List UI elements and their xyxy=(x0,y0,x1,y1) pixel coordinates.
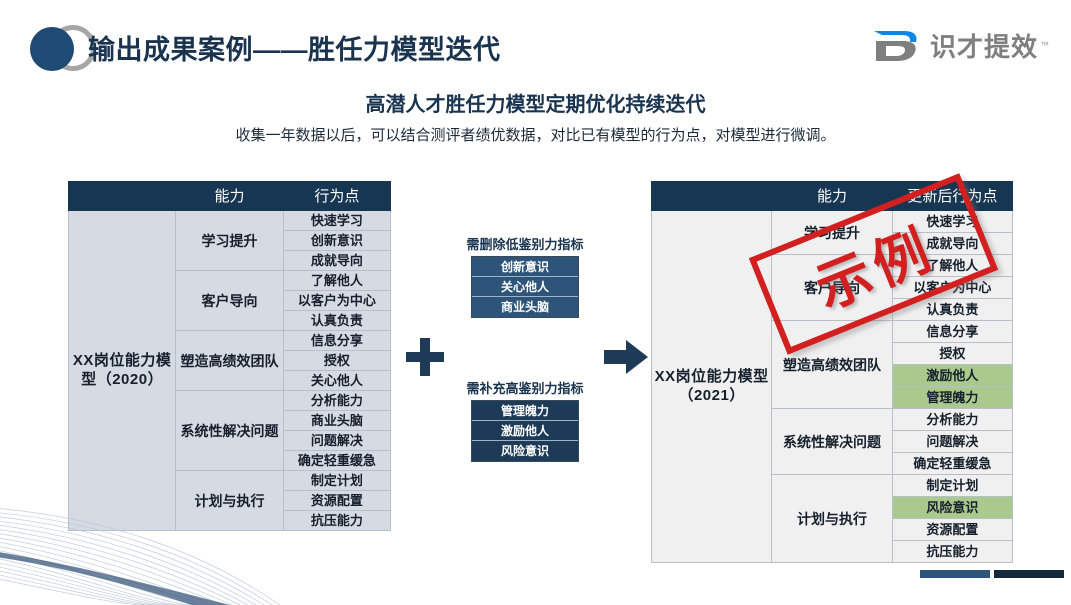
plus-icon xyxy=(406,338,444,376)
behavior-cell: 资源配置 xyxy=(892,519,1012,541)
behavior-cell: 成就导向 xyxy=(283,251,390,271)
behavior-cell: 制定计划 xyxy=(283,471,390,491)
list-item: 商业头脑 xyxy=(472,297,578,317)
behavior-cell: 授权 xyxy=(283,351,390,371)
logo-disc-shape xyxy=(30,27,74,71)
behavior-cell-added: 激励他人 xyxy=(892,365,1012,387)
behavior-cell: 关心他人 xyxy=(283,371,390,391)
behavior-cell: 快速学习 xyxy=(892,211,1012,233)
behavior-cell: 确定轻重缓急 xyxy=(892,453,1012,475)
section-subtitle: 高潜人才胜任力模型定期优化持续迭代 xyxy=(0,88,1071,117)
trademark-symbol: ™ xyxy=(1040,40,1049,50)
behavior-cell: 信息分享 xyxy=(283,331,390,351)
behavior-cell: 创新意识 xyxy=(283,231,390,251)
competency-cell: 客户导向 xyxy=(772,255,892,321)
behavior-cell: 成就导向 xyxy=(892,233,1012,255)
table-2020-header-competency: 能力 xyxy=(176,182,283,211)
decorative-wave-graphic xyxy=(0,505,410,605)
competency-cell: 客户导向 xyxy=(176,271,283,331)
table-2020-header-blank xyxy=(69,182,176,211)
competency-cell: 系统性解决问题 xyxy=(772,409,892,475)
behavior-cell: 确定轻重缓急 xyxy=(283,451,390,471)
table-row: XX岗位能力模型（2020） 学习提升 快速学习 xyxy=(69,211,391,231)
behavior-cell: 分析能力 xyxy=(892,409,1012,431)
table-2020-header-row: 能力 行为点 xyxy=(69,182,391,211)
remove-indicators-label: 需删除低鉴别力指标 xyxy=(430,234,620,253)
brand-d-mark-icon xyxy=(870,25,922,65)
behavior-cell: 认真负责 xyxy=(892,299,1012,321)
behavior-cell: 授权 xyxy=(892,343,1012,365)
competency-model-2021-table: 能力 更新后行为点 XX岗位能力模型（2021） 学习提升 快速学习 成就导向 … xyxy=(651,181,1013,563)
table-row: XX岗位能力模型（2021） 学习提升 快速学习 xyxy=(652,211,1013,233)
competency-cell: 学习提升 xyxy=(772,211,892,255)
behavior-cell: 制定计划 xyxy=(892,475,1012,497)
competency-cell: 学习提升 xyxy=(176,211,283,271)
list-item: 激励他人 xyxy=(472,421,578,441)
right-arrow-icon xyxy=(604,340,648,374)
competency-model-2020-table: 能力 行为点 XX岗位能力模型（2020） 学习提升 快速学习 创新意识 成就导… xyxy=(68,181,391,531)
competency-cell: 塑造高绩效团队 xyxy=(176,331,283,391)
table-2020-body: XX岗位能力模型（2020） 学习提升 快速学习 创新意识 成就导向 客户导向 … xyxy=(69,211,391,531)
list-item: 管理魄力 xyxy=(472,401,578,421)
table-2021-body: XX岗位能力模型（2021） 学习提升 快速学习 成就导向 客户导向 了解他人 … xyxy=(652,211,1013,563)
brand-lockup: 识才提效 ™ xyxy=(870,24,1049,66)
brand-name: 识才提效 xyxy=(930,27,1038,64)
arrow-head xyxy=(626,340,648,374)
footer-accent-bar-light xyxy=(920,570,990,578)
overlapping-circles-logo-icon xyxy=(28,23,90,75)
behavior-cell: 商业头脑 xyxy=(283,411,390,431)
model-label-2021: XX岗位能力模型（2021） xyxy=(652,211,772,563)
competency-cell: 系统性解决问题 xyxy=(176,391,283,471)
add-indicators-label: 需补充高鉴别力指标 xyxy=(430,378,620,397)
behavior-cell-added: 风险意识 xyxy=(892,497,1012,519)
behavior-cell-added: 管理魄力 xyxy=(892,387,1012,409)
table-2021-header-row: 能力 更新后行为点 xyxy=(652,182,1013,211)
table-2021-header-blank xyxy=(652,182,772,211)
footer-accent-bar-dark xyxy=(994,570,1064,578)
list-item: 风险意识 xyxy=(472,441,578,461)
behavior-cell: 信息分享 xyxy=(892,321,1012,343)
model-label-2020: XX岗位能力模型（2020） xyxy=(69,211,176,531)
section-description: 收集一年数据以后，可以结合测评者绩优数据，对比已有模型的行为点，对模型进行微调。 xyxy=(0,124,1071,145)
behavior-cell: 分析能力 xyxy=(283,391,390,411)
add-indicators-list: 管理魄力 激励他人 风险意识 xyxy=(471,400,579,462)
competency-cell: 计划与执行 xyxy=(772,475,892,563)
behavior-cell: 了解他人 xyxy=(283,271,390,291)
behavior-cell: 了解他人 xyxy=(892,255,1012,277)
behavior-cell: 问题解决 xyxy=(892,431,1012,453)
behavior-cell: 问题解决 xyxy=(283,431,390,451)
table-2021-header-competency: 能力 xyxy=(772,182,892,211)
table-2021-header-behavior: 更新后行为点 xyxy=(892,182,1012,211)
page-title: 输出成果案例——胜任力模型迭代 xyxy=(88,28,501,67)
remove-indicators-list: 创新意识 关心他人 商业头脑 xyxy=(471,256,579,318)
behavior-cell: 以客户为中心 xyxy=(892,277,1012,299)
competency-cell: 塑造高绩效团队 xyxy=(772,321,892,409)
arrow-shaft xyxy=(604,350,628,364)
behavior-cell: 抗压能力 xyxy=(892,541,1012,563)
list-item: 关心他人 xyxy=(472,277,578,297)
list-item: 创新意识 xyxy=(472,257,578,277)
behavior-cell: 认真负责 xyxy=(283,311,390,331)
table-2020-header-behavior: 行为点 xyxy=(283,182,390,211)
behavior-cell: 快速学习 xyxy=(283,211,390,231)
slide-header: 输出成果案例——胜任力模型迭代 识才提效 ™ xyxy=(0,0,1071,84)
behavior-cell: 以客户为中心 xyxy=(283,291,390,311)
